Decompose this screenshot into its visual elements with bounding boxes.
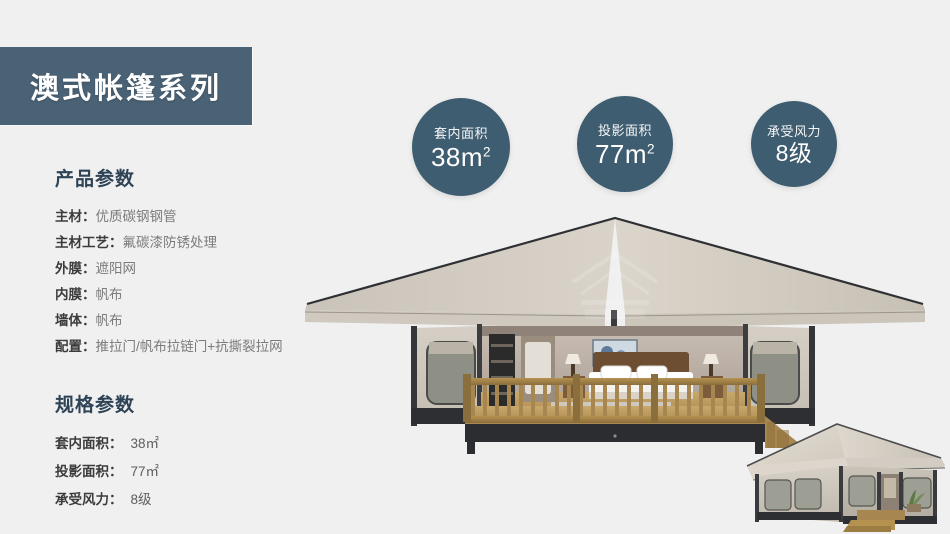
param-value: 帆布 — [96, 313, 123, 328]
spec-value: 8级 — [131, 492, 152, 507]
param-value: 推拉门/帆布拉链门+抗撕裂拉网 — [96, 339, 283, 354]
stat-badge-projected-area: 投影面积 77m2 — [577, 96, 673, 192]
stat-label: 投影面积 — [598, 120, 652, 139]
param-label: 内膜： — [55, 287, 96, 302]
param-label: 主材： — [55, 209, 96, 224]
title-banner: 澳式帐篷系列 — [0, 47, 252, 125]
product-params-heading: 产品参数 — [55, 164, 355, 191]
param-value: 氟碳漆防锈处理 — [123, 235, 218, 250]
spec-row: 承受风力：8级 — [55, 486, 355, 514]
slide-canvas: 澳式帐篷系列 产品参数 主材：优质碳钢钢管 主材工艺：氟碳漆防锈处理 外膜：遮阳… — [0, 0, 950, 534]
spec-label: 投影面积： — [55, 464, 123, 479]
param-label: 配置： — [55, 339, 96, 354]
spec-label: 套内面积： — [55, 436, 123, 451]
stat-label: 套内面积 — [434, 123, 488, 142]
param-value: 遮阳网 — [96, 261, 137, 276]
stat-badge-wind-resistance: 承受风力 8级 — [751, 101, 837, 187]
param-label: 墙体： — [55, 313, 96, 328]
param-label: 主材工艺： — [55, 235, 123, 250]
param-label: 外膜： — [55, 261, 96, 276]
spec-value: 77㎡ — [131, 464, 160, 479]
spec-label: 承受风力： — [55, 492, 123, 507]
secondary-tent-illustration — [745, 418, 950, 534]
param-value: 帆布 — [96, 287, 123, 302]
stat-badge-interior-area: 套内面积 38m2 — [412, 98, 510, 196]
stat-value: 8级 — [776, 141, 813, 166]
spec-row: 投影面积：77㎡ — [55, 458, 355, 486]
page-title: 澳式帐篷系列 — [30, 65, 222, 107]
stat-label: 承受风力 — [767, 121, 821, 140]
spec-value: 38㎡ — [131, 436, 160, 451]
stat-value: 77m2 — [595, 140, 655, 169]
stat-value: 38m2 — [431, 143, 491, 172]
param-value: 优质碳钢钢管 — [96, 209, 177, 224]
main-tent-illustration — [305, 210, 925, 450]
